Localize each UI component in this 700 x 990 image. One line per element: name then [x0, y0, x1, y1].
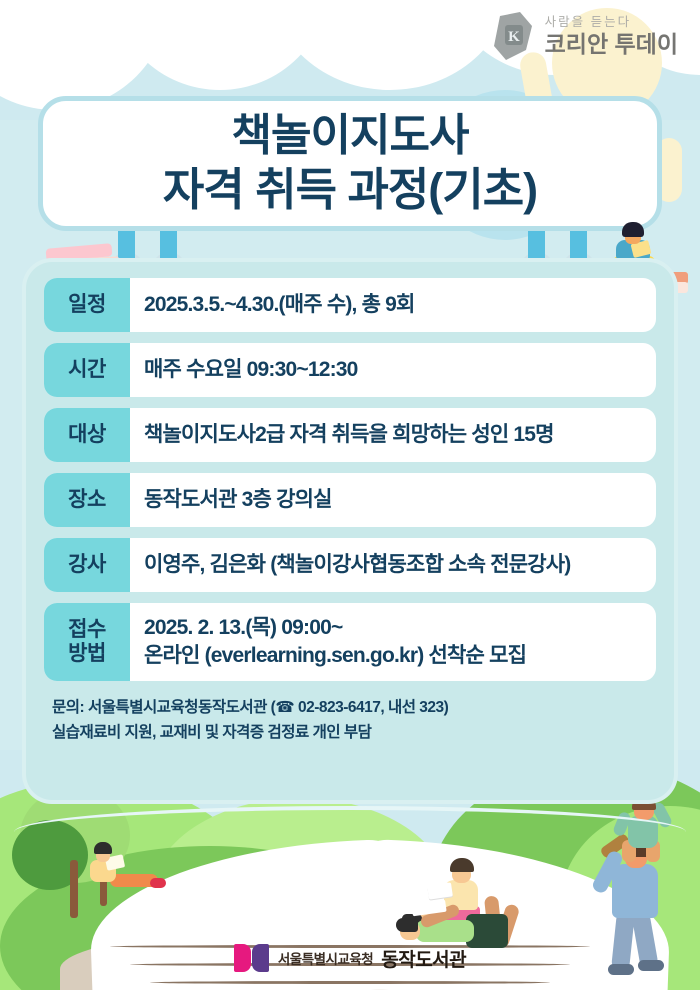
page-title-line1: 책놀이지도사 — [232, 109, 469, 163]
masthead-name: 코리안 투데이 — [545, 33, 678, 56]
footnote-fees: 실습재료비 지원, 교재비 및 자격증 검정료 개인 부담 — [52, 721, 650, 746]
info-row-instructor: 강사 이영주, 김은화 (책놀이강사협동조합 소속 전문강사) — [44, 538, 656, 592]
row-label: 강사 — [44, 538, 130, 592]
row-value: 매주 수요일 09:30~12:30 — [130, 343, 656, 397]
row-label-line2: 방법 — [68, 642, 106, 666]
info-row-schedule: 일정 2025.3.5.~4.30.(매주 수), 총 9회 — [44, 278, 656, 332]
row-label: 장소 — [44, 473, 130, 527]
row-value: 2025. 2. 13.(목) 09:00~ 온라인 (everlearning… — [130, 603, 656, 681]
row-label: 접수 방법 — [44, 603, 130, 681]
masthead-tagline: 사람을 듣는다 — [545, 16, 678, 29]
row-label: 대상 — [44, 408, 130, 462]
row-value-line: 2025.3.5.~4.30.(매주 수), 총 9회 — [144, 291, 642, 319]
row-value: 책놀이지도사2급 자격 취득을 희망하는 성인 15명 — [130, 408, 656, 462]
row-value-line: 2025. 2. 13.(목) 09:00~ — [144, 614, 642, 642]
row-value-line: 동작도서관 3층 강의실 — [144, 486, 642, 514]
row-value-line: 온라인 (everlearning.sen.go.kr) 선착순 모집 — [144, 642, 642, 670]
info-row-time: 시간 매주 수요일 09:30~12:30 — [44, 343, 656, 397]
person-carrying-child — [600, 788, 700, 958]
info-row-audience: 대상 책놀이지도사2급 자격 취득을 희망하는 성인 15명 — [44, 408, 656, 462]
info-row-place: 장소 동작도서관 3층 강의실 — [44, 473, 656, 527]
svg-text:K: K — [508, 29, 520, 45]
row-value-line: 매주 수요일 09:30~12:30 — [144, 356, 642, 384]
row-value-line: 이영주, 김은화 (책놀이강사협동조합 소속 전문강사) — [144, 551, 642, 579]
korean-today-k-logo-icon: K — [490, 10, 536, 62]
row-label-line1: 접수 — [68, 618, 106, 642]
title-card: 책놀이지도사 자격 취득 과정(기초) — [38, 96, 662, 231]
library-logo-prefix: 서울특별시교육청 — [278, 948, 373, 968]
person-reading-on-grass — [88, 842, 178, 898]
open-book-icon — [234, 944, 270, 972]
row-label: 일정 — [44, 278, 130, 332]
poster-root: K 사람을 듣는다 코리안 투데이 책놀이지도사 자격 취득 과정(기초) 일정 — [0, 0, 700, 990]
info-panel: 일정 2025.3.5.~4.30.(매주 수), 총 9회 시간 매주 수요일… — [26, 262, 674, 800]
row-value: 동작도서관 3층 강의실 — [130, 473, 656, 527]
masthead: K 사람을 듣는다 코리안 투데이 — [490, 10, 678, 62]
library-logo: 서울특별시교육청 동작도서관 — [0, 944, 700, 972]
library-logo-name: 동작도서관 — [381, 945, 466, 972]
row-value: 이영주, 김은화 (책놀이강사협동조합 소속 전문강사) — [130, 538, 656, 592]
info-row-registration: 접수 방법 2025. 2. 13.(목) 09:00~ 온라인 (everle… — [44, 603, 656, 681]
row-value-line: 책놀이지도사2급 자격 취득을 희망하는 성인 15명 — [144, 421, 642, 449]
footnotes: 문의: 서울특별시교육청동작도서관 (☎ 02-823-6417, 내선 323… — [44, 692, 656, 746]
row-value: 2025.3.5.~4.30.(매주 수), 총 9회 — [130, 278, 656, 332]
row-label: 시간 — [44, 343, 130, 397]
page-edge-line — [150, 981, 550, 984]
footnote-contact: 문의: 서울특별시교육청동작도서관 (☎ 02-823-6417, 내선 323… — [52, 696, 650, 721]
page-title-line2: 자격 취득 과정(기초) — [163, 163, 537, 218]
